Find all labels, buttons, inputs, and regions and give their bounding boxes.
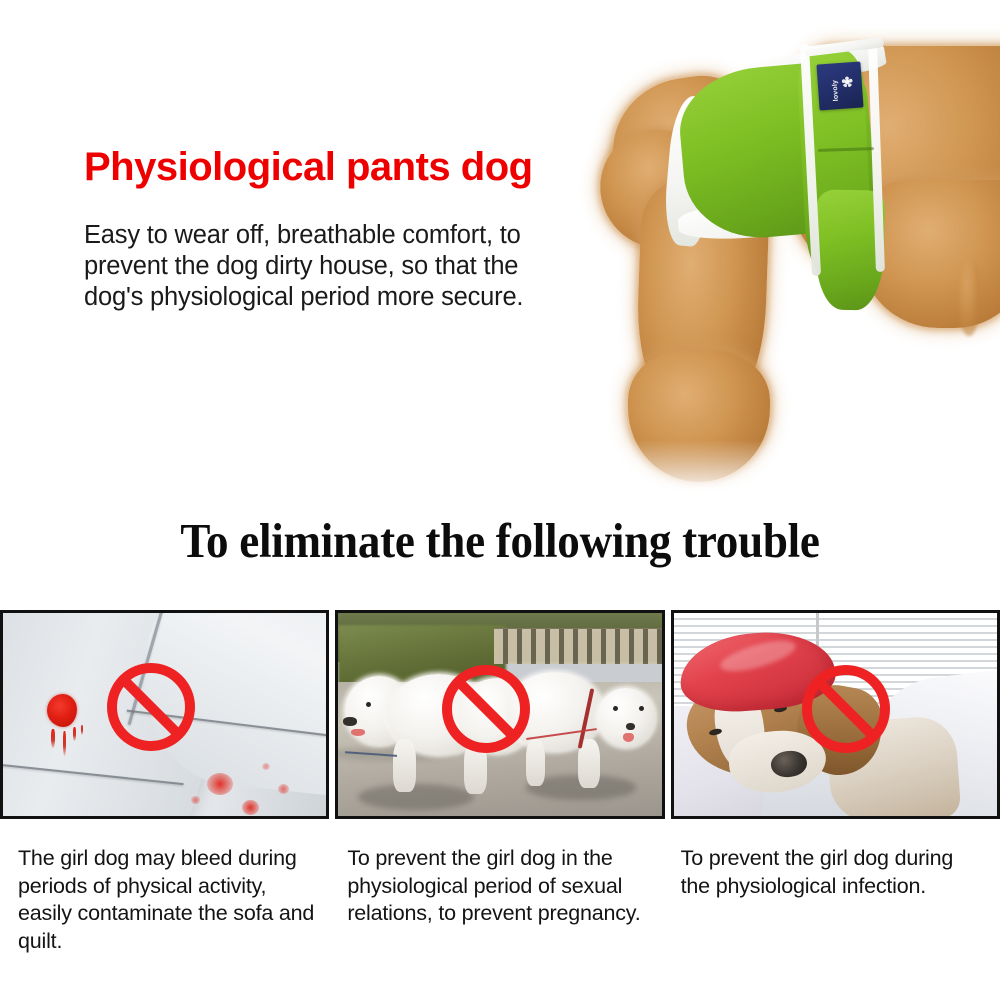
brand-tag: lovoly <box>816 62 863 111</box>
right-dog-tongue <box>623 733 634 742</box>
dog-shadow-left <box>358 784 474 810</box>
blood-spatter-d <box>191 796 200 804</box>
left-dog-front-leg <box>393 739 416 792</box>
panel-bleeding-sofa <box>0 610 329 819</box>
panel-caption-row: The girl dog may bleed during periods of… <box>0 845 1000 955</box>
prohibition-sign-icon <box>802 665 890 753</box>
hero-product-photo: lovoly <box>560 0 1000 510</box>
caption-sick-dog: To prevent the girl dog during the physi… <box>667 845 1000 955</box>
prohibition-sign-icon <box>442 665 530 753</box>
paw-logo-icon <box>841 76 853 88</box>
blood-spatter-a <box>207 773 233 795</box>
blood-spatter-e <box>262 763 270 770</box>
trouble-panel-row <box>0 610 1000 819</box>
blood-drip-b <box>63 731 66 756</box>
caption-bleeding-sofa: The girl dog may bleed during periods of… <box>0 845 333 955</box>
blood-drip-c <box>73 727 76 741</box>
blood-spatter-b <box>242 800 259 815</box>
right-dog-rear-leg <box>526 739 545 786</box>
section-title: To eliminate the following trouble <box>40 512 960 569</box>
caption-mating-dogs: To prevent the girl dog in the physiolog… <box>333 845 666 955</box>
page-title: Physiological pants dog <box>84 146 533 188</box>
blood-stain-primary <box>47 694 77 727</box>
prohibition-sign-icon <box>107 663 195 751</box>
left-dog-tongue <box>351 729 365 736</box>
blood-spatter-c <box>278 784 289 794</box>
panel-sick-dog <box>671 610 1000 819</box>
photo-bottom-fade <box>560 440 1000 510</box>
right-dog-nose <box>626 723 635 730</box>
panel-mating-dogs <box>335 610 664 819</box>
product-marketing-page: lovoly Physiological pants dog Easy to w… <box>0 0 1000 1000</box>
blood-drip-d <box>81 725 83 735</box>
fence-pickets <box>494 629 662 664</box>
product-description: Easy to wear off, breathable comfort, to… <box>84 220 584 313</box>
left-dog-nose <box>343 717 357 726</box>
brand-tag-text: lovoly <box>832 80 840 102</box>
dog-far-paw <box>958 258 980 336</box>
